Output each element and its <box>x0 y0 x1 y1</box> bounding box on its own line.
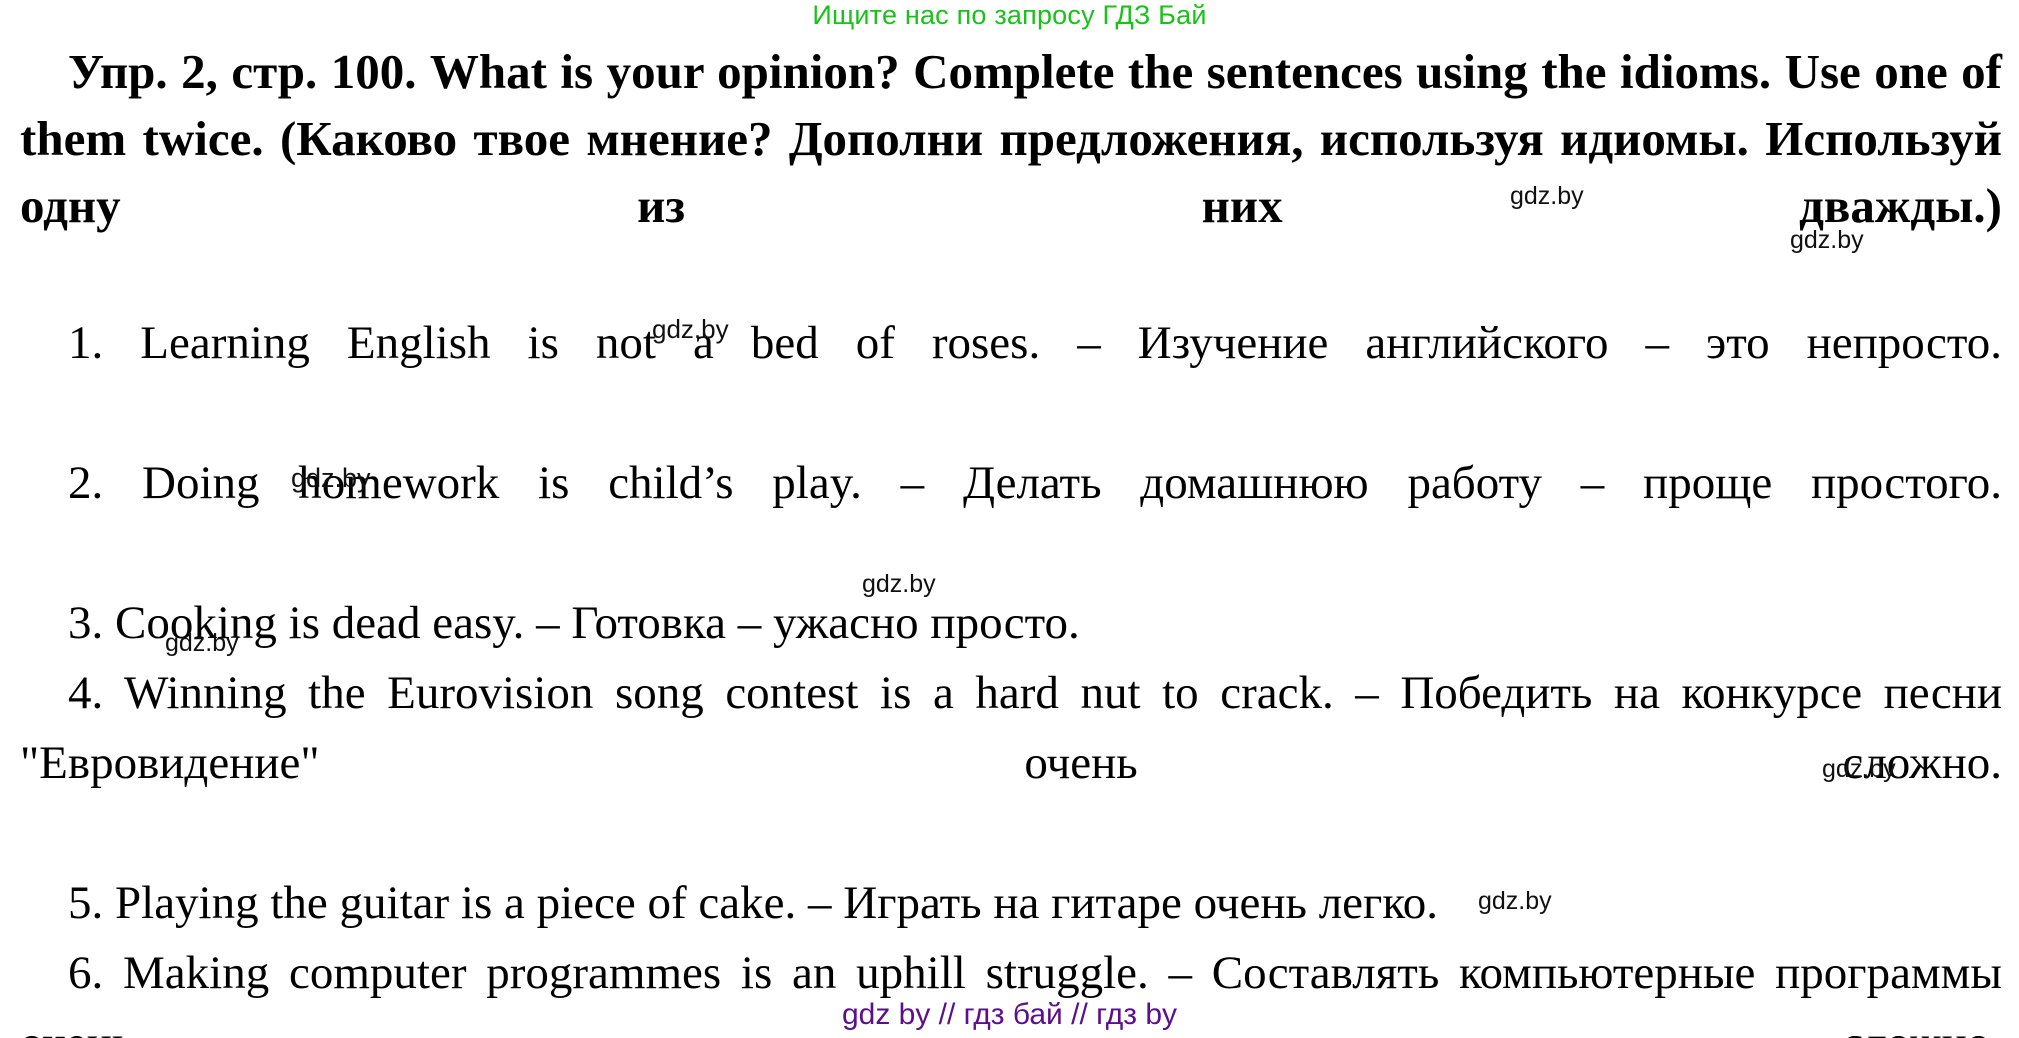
site-footer-credit: gdz by // гдз бай // гдз by <box>0 998 2019 1032</box>
answer-content: Упр. 2, стр. 100. What is your opinion? … <box>20 38 2002 1038</box>
answer-item-2: 2. Doing homework is child’s play. – Дел… <box>20 448 2002 588</box>
site-promo-banner: Ищите нас по запросу ГДЗ Бай <box>0 0 2019 30</box>
answer-item-1: 1. Learning English is not a bed of rose… <box>20 308 2002 448</box>
task-title: Упр. 2, стр. 100. What is your opinion? … <box>20 38 2002 306</box>
answer-item-5: 5. Playing the guitar is a piece of cake… <box>20 868 2002 938</box>
answer-item-3: 3. Cooking is dead easy. – Готовка – ужа… <box>20 588 2002 658</box>
document-page: Ищите нас по запросу ГДЗ Бай Упр. 2, стр… <box>0 0 2019 1038</box>
answer-item-4: 4. Winning the Eurovision song contest i… <box>20 658 2002 868</box>
